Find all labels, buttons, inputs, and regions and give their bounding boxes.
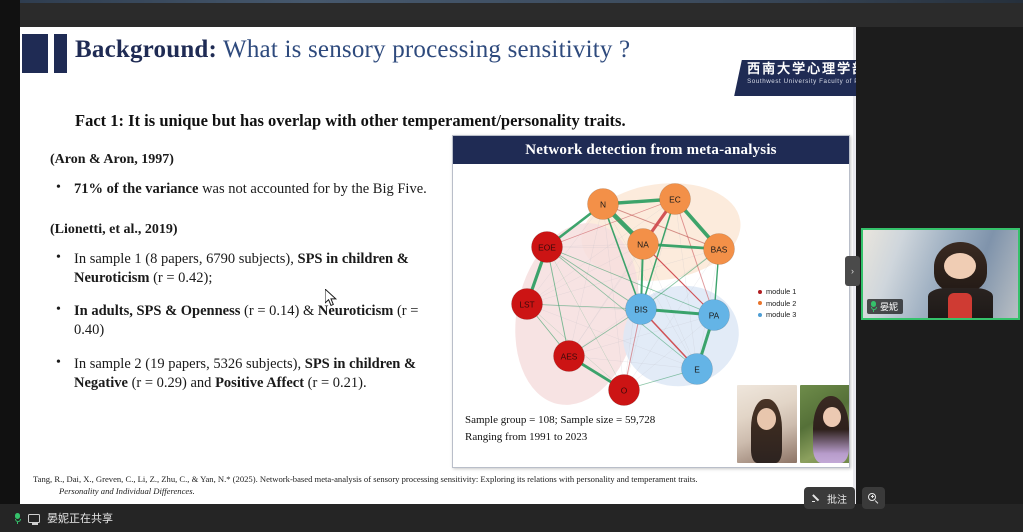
page-title-bold: Background:	[75, 36, 217, 63]
bullet-item-1: 71% of the variance was not accounted fo…	[36, 180, 448, 199]
legend-color-dot	[758, 301, 762, 305]
slide-subheading: Fact 1: It is unique but has overlap wit…	[75, 111, 815, 131]
network-node-bis: BIS	[626, 294, 657, 325]
node-label: NA	[637, 239, 649, 249]
slide-body-text: (Aron & Aron, 1997) 71% of the variance …	[36, 151, 448, 407]
node-label: BIS	[634, 304, 648, 314]
annotate-label: 批注	[827, 491, 847, 506]
shared-slide: Background: What is sensory processing s…	[20, 27, 856, 504]
zoom-in-button[interactable]	[862, 487, 885, 509]
node-label: N	[600, 199, 606, 209]
legend-item: module 1	[758, 286, 796, 298]
chart-body: NECNABASEOELSTAESOBISPAE module 1module …	[453, 164, 849, 467]
logo-chinese-text: 西南大学心理学部	[747, 62, 856, 77]
portrait-photo-1	[737, 385, 797, 463]
node-label: EC	[669, 194, 681, 204]
participant-name-badge: 晏妮	[867, 299, 903, 314]
pen-icon	[812, 493, 823, 504]
zoom-meeting-window: Background: What is sensory processing s…	[0, 0, 1023, 532]
portrait-photo-2	[800, 385, 850, 463]
university-logo: 西南大学心理学部 Southwest University Faculty of…	[734, 60, 856, 96]
legend-label: module 3	[766, 309, 796, 321]
network-node-e: E	[682, 354, 713, 385]
bullet-1-bold: 71% of the variance	[74, 181, 198, 197]
caption-line-2: Ranging from 1991 to 2023	[465, 429, 655, 446]
legend-item: module 2	[758, 298, 796, 310]
page-title: Background: What is sensory processing s…	[75, 36, 630, 64]
share-status-group: 晏妮正在共享	[14, 510, 113, 526]
legend-item: module 3	[758, 309, 796, 321]
node-label: O	[621, 385, 628, 395]
node-label: BAS	[711, 244, 728, 254]
annotation-toolbar: 批注	[804, 487, 885, 509]
citation-block: Tang, R., Dai, X., Greven, C., Li, Z., Z…	[33, 473, 845, 498]
zoom-toolbar-strip	[0, 3, 1023, 27]
zoom-bottom-bar: 晏妮正在共享 批注	[0, 504, 1023, 532]
page-title-rest: What is sensory processing sensitivity ?	[217, 36, 630, 63]
network-node-n: N	[588, 189, 619, 220]
logo-english-text: Southwest University Faculty of Psycholo…	[747, 77, 856, 86]
bullet-2-plain-2: (r = 0.42);	[149, 270, 212, 286]
chart-legend: module 1module 2module 3	[758, 286, 796, 321]
node-label: PA	[709, 310, 720, 320]
mouse-cursor	[325, 289, 338, 307]
bullet-3-bold-1: In adults, SPS & Openness	[74, 303, 240, 319]
window-left-margin	[0, 0, 20, 532]
citation-line-1: Tang, R., Dai, X., Greven, C., Li, Z., Z…	[33, 474, 698, 484]
node-label: E	[694, 364, 700, 374]
bullet-1-rest: was not accounted for by the Big Five.	[198, 181, 426, 197]
network-node-o: O	[609, 375, 640, 406]
annotate-button[interactable]: 批注	[804, 487, 855, 509]
chart-title: Network detection from meta-analysis	[453, 136, 849, 164]
participant-video-tile[interactable]: 晏妮	[861, 228, 1020, 320]
screen-share-icon	[28, 514, 40, 523]
network-node-ec: EC	[660, 184, 691, 215]
bullet-item-3: In adults, SPS & Openness (r = 0.14) & N…	[36, 302, 448, 340]
reference-aron: (Aron & Aron, 1997)	[50, 151, 448, 169]
magnifier-plus-icon	[868, 493, 879, 504]
legend-label: module 1	[766, 286, 796, 298]
title-decor-block-1	[22, 34, 48, 73]
legend-color-dot	[758, 313, 762, 317]
citation-line-2: Personality and Individual Differences.	[59, 485, 845, 497]
slide-title-row: Background: What is sensory processing s…	[20, 27, 856, 80]
share-status-text: 晏妮正在共享	[47, 510, 113, 526]
network-node-na: NA	[628, 229, 659, 260]
node-label: EOE	[538, 242, 556, 252]
node-label: LST	[519, 299, 534, 309]
reference-lionetti: (Lionetti, et al., 2019)	[50, 221, 448, 239]
network-node-aes: AES	[554, 341, 585, 372]
network-node-pa: PA	[699, 300, 730, 331]
video-person-shirt	[948, 293, 971, 318]
bullet-4-plain-2: (r = 0.29) and	[128, 375, 215, 391]
legend-label: module 2	[766, 298, 796, 310]
bullet-3-plain-1: (r = 0.14) &	[240, 303, 317, 319]
bullet-2-plain-1: In sample 1 (8 papers, 6790 subjects),	[74, 251, 298, 267]
legend-color-dot	[758, 290, 762, 294]
bullet-item-2: In sample 1 (8 papers, 6790 subjects), S…	[36, 250, 448, 288]
title-decor-block-2	[54, 34, 67, 73]
bullet-item-4: In sample 2 (19 papers, 5326 subjects), …	[36, 355, 448, 393]
microphone-icon	[14, 513, 21, 524]
bullet-4-bold-2: Positive Affect	[215, 375, 304, 391]
microphone-icon	[870, 301, 877, 312]
panel-collapse-handle[interactable]: ›	[845, 256, 860, 286]
network-node-eoe: EOE	[532, 232, 563, 263]
network-node-lst: LST	[512, 289, 543, 320]
chart-caption: Sample group = 108; Sample size = 59,728…	[465, 412, 655, 446]
network-chart-panel: Network detection from meta-analysis NEC…	[452, 135, 850, 468]
node-label: AES	[561, 351, 578, 361]
caption-line-1: Sample group = 108; Sample size = 59,728	[465, 412, 655, 429]
participant-name: 晏妮	[880, 300, 898, 313]
network-node-bas: BAS	[704, 234, 735, 265]
portrait-photo-pair	[734, 382, 849, 466]
bullet-4-plain-1: In sample 2 (19 papers, 5326 subjects),	[74, 356, 305, 372]
bullet-4-plain-3: (r = 0.21).	[304, 375, 367, 391]
